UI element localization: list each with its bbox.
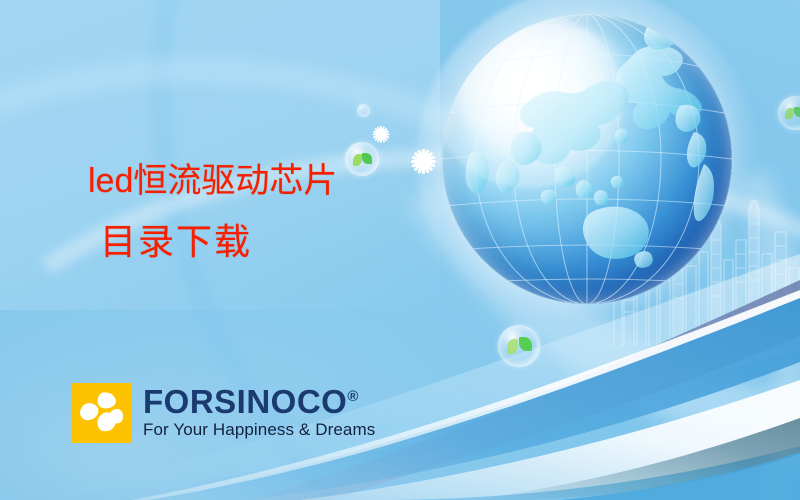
bubble-with-green-leaves <box>345 142 379 176</box>
slide-canvas: led恒流驱动芯片 目录下载 FORSINOCO® For Your Happi… <box>0 0 800 500</box>
leaf-shape <box>519 337 532 351</box>
leaf-shape <box>362 153 372 164</box>
brand-logo: FORSINOCO® For Your Happiness & Dreams <box>72 383 375 443</box>
brand-tagline: For Your Happiness & Dreams <box>143 421 375 438</box>
star-sparkle-icon <box>410 148 436 174</box>
headline: led恒流驱动芯片 目录下载 <box>88 164 337 260</box>
bubble-with-green-leaves <box>498 325 540 367</box>
headline-line-1: led恒流驱动芯片 <box>88 162 337 200</box>
leaf-shape <box>353 154 362 166</box>
registered-mark: ® <box>347 388 359 405</box>
leaf-shape <box>785 108 794 119</box>
four-petal-pinwheel-icon <box>72 383 132 443</box>
leaf-shape <box>507 339 518 354</box>
brand-name-text: FORSINOCO <box>143 383 347 420</box>
ribbon-bands <box>0 240 800 500</box>
headline-line-2: 目录下载 <box>100 224 337 260</box>
brand-name: FORSINOCO® <box>143 385 375 418</box>
bubble-small <box>357 104 370 117</box>
logo-text-block: FORSINOCO® For Your Happiness & Dreams <box>143 383 375 438</box>
leaf-shape <box>794 107 800 117</box>
star-sparkle-icon <box>372 125 390 143</box>
